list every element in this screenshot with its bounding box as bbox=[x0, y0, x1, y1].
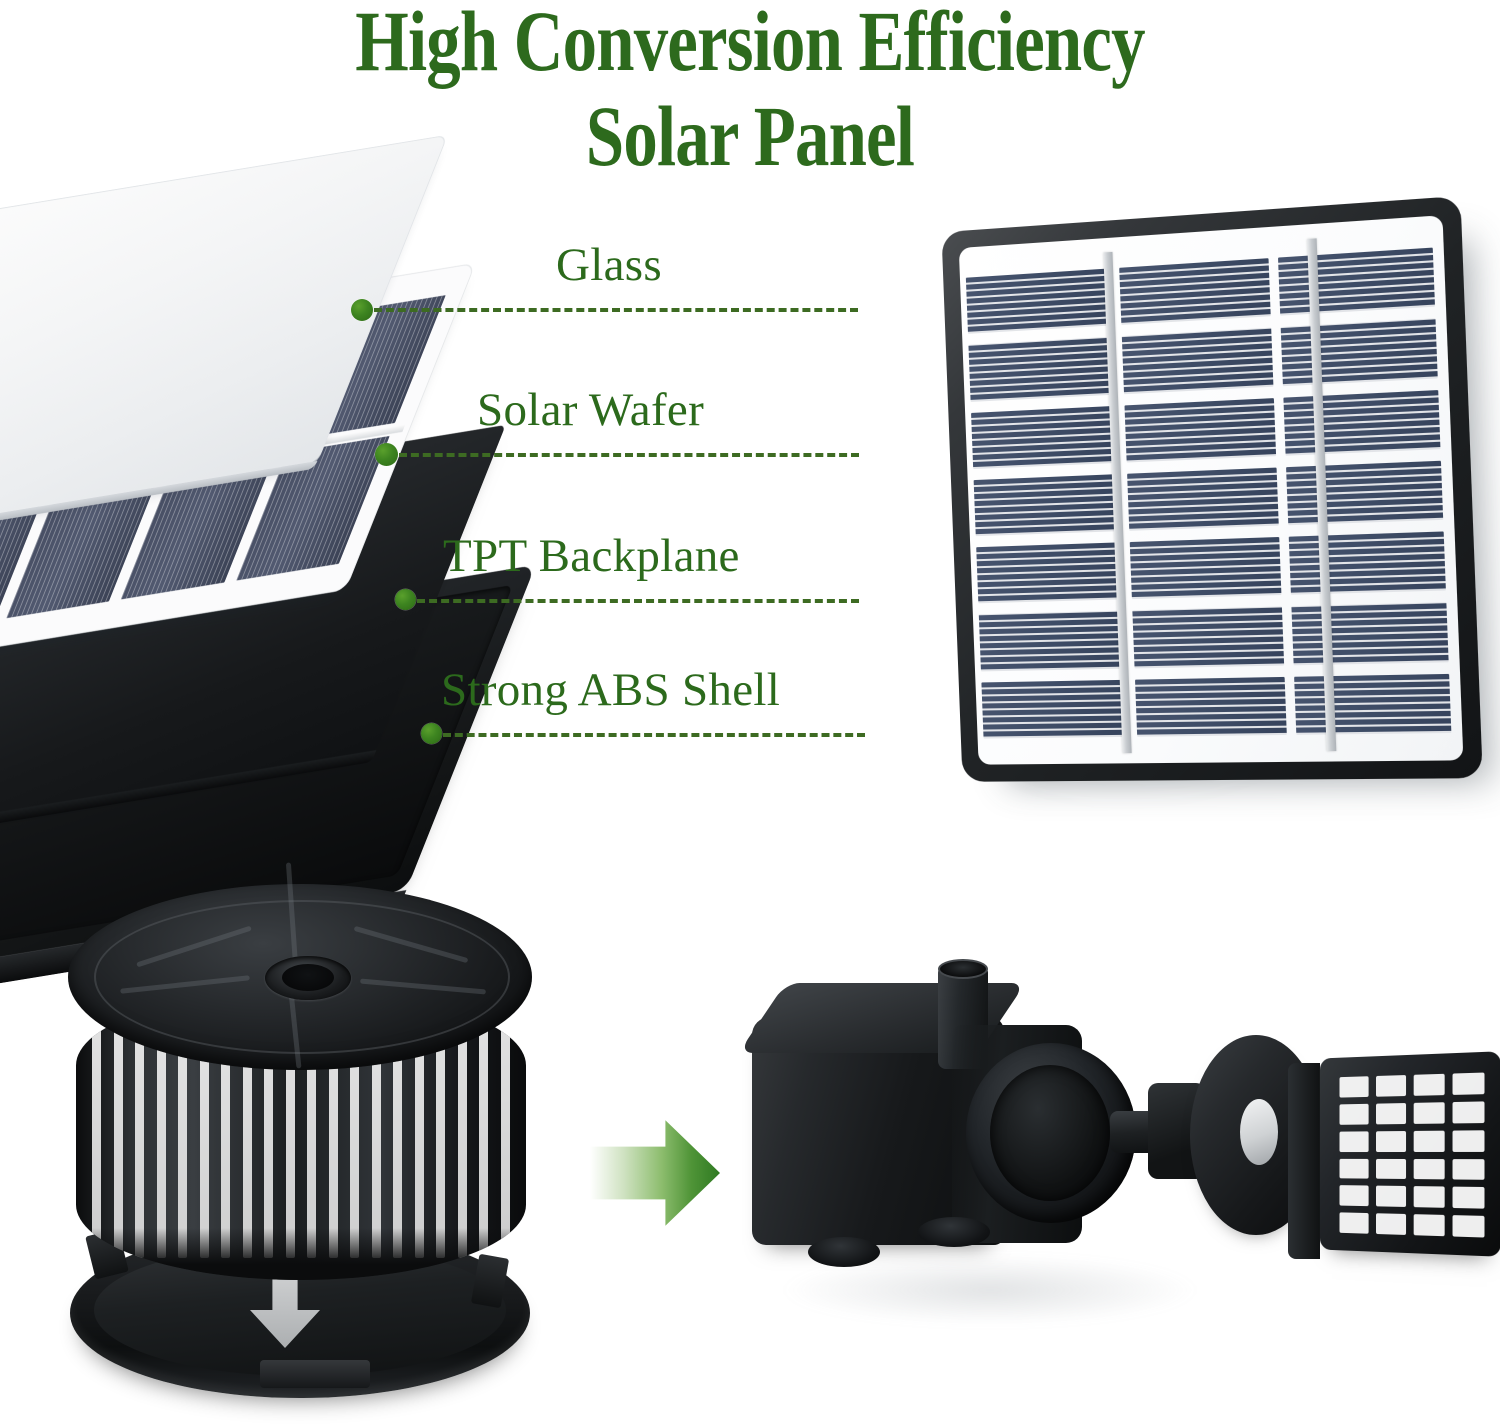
product-infographic: High Conversion Efficiency Solar Panel bbox=[0, 0, 1500, 1428]
green-flow-arrow-icon bbox=[590, 1118, 720, 1228]
callout-leader-solar-wafer bbox=[399, 453, 859, 457]
callout-label-abs-shell: Strong ABS Shell bbox=[441, 663, 780, 717]
pump-impeller-cavity bbox=[990, 1065, 1110, 1201]
callout-label-tpt-backplane: TPT Backplane bbox=[443, 529, 740, 583]
callout-dot-solar-wafer bbox=[375, 443, 398, 466]
callout-label-glass: Glass bbox=[556, 238, 662, 292]
pump-grate-cover bbox=[1320, 1051, 1500, 1257]
callout-dot-glass bbox=[351, 299, 373, 321]
callout-leader-glass bbox=[374, 308, 858, 312]
callout-dot-abs-shell bbox=[421, 723, 442, 744]
panel-cell-grid bbox=[966, 248, 1452, 739]
callout-dot-tpt-backplane bbox=[395, 589, 416, 610]
water-pump-assembly bbox=[740, 955, 1440, 1385]
cage-center-hub-hole bbox=[282, 964, 334, 991]
pump-cover-hole bbox=[1240, 1099, 1278, 1165]
solar-panel-front-view bbox=[941, 196, 1482, 782]
callout-leader-tpt-backplane bbox=[417, 599, 859, 603]
exploded-solar-panel-layers bbox=[0, 196, 485, 836]
page-title: High Conversion Efficiency Solar Panel bbox=[0, 0, 1500, 182]
pump-suction-cup-right bbox=[918, 1217, 990, 1247]
pump-suction-cup-left bbox=[808, 1237, 880, 1267]
callout-leader-abs-shell bbox=[443, 733, 865, 737]
pump-outlet-opening bbox=[938, 959, 988, 979]
panel-backing bbox=[959, 215, 1464, 764]
title-line-1: High Conversion Efficiency bbox=[150, 0, 1350, 87]
pump-grate-side bbox=[1288, 1063, 1320, 1259]
pump-grate-openings bbox=[1339, 1073, 1484, 1238]
cage-base-tab-bottom bbox=[260, 1360, 370, 1388]
callout-label-solar-wafer: Solar Wafer bbox=[477, 383, 704, 437]
pump-filter-cage bbox=[60, 860, 540, 1420]
